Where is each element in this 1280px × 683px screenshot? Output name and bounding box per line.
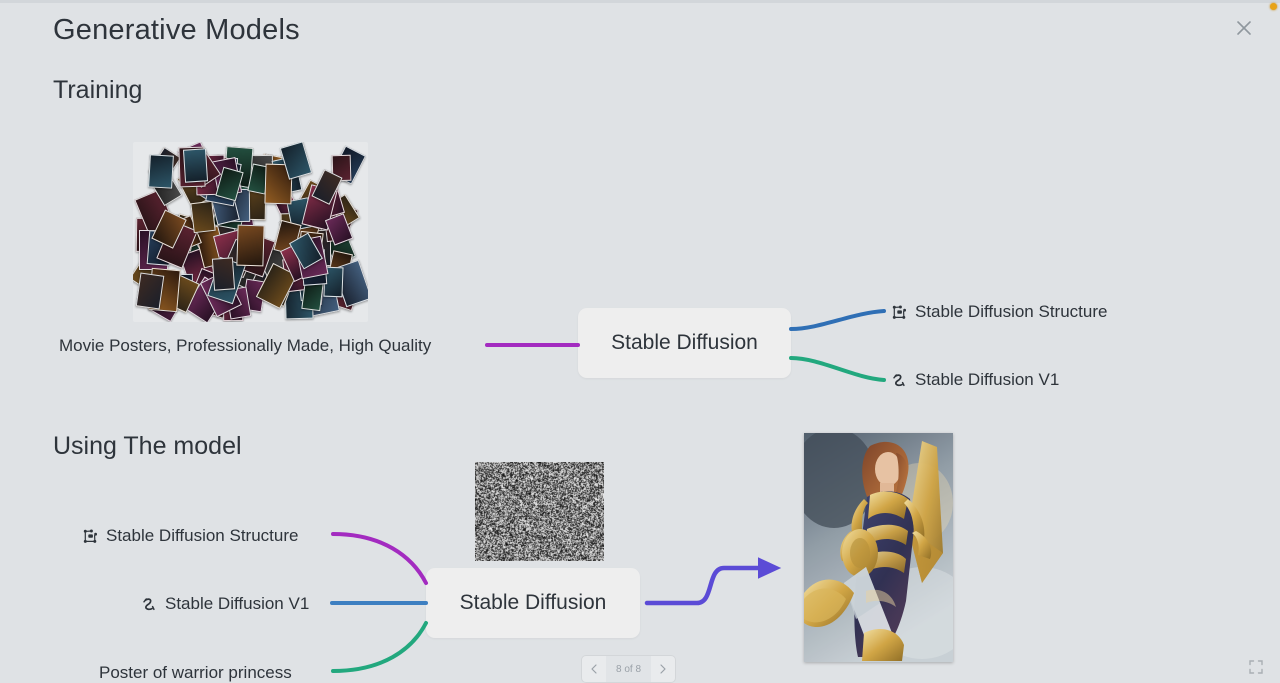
training-output-structure: Stable Diffusion Structure: [891, 302, 1107, 322]
status-dot: [1270, 3, 1277, 10]
using-input-v1: Stable Diffusion V1: [141, 594, 309, 614]
structure-nodes-icon: [891, 304, 908, 321]
latent-noise-image: [475, 462, 604, 561]
using-input-prompt-label: Poster of warrior princess: [99, 663, 292, 683]
poster-thumb: [148, 155, 174, 189]
poster-thumb: [302, 281, 324, 311]
node-stable-diffusion-training[interactable]: Stable Diffusion: [578, 308, 791, 378]
page-indicator: 8 of 8: [606, 656, 651, 682]
poster-thumb: [135, 273, 163, 310]
poster-thumb: [236, 225, 264, 267]
using-input-prompt: Poster of warrior princess: [99, 663, 292, 683]
training-output-v1-label: Stable Diffusion V1: [915, 370, 1059, 390]
poster-thumb: [183, 148, 208, 182]
movie-poster-collage-image: [133, 142, 368, 322]
node-label: Stable Diffusion: [460, 591, 607, 615]
next-page-button[interactable]: [651, 656, 675, 682]
training-output-v1: Stable Diffusion V1: [891, 370, 1059, 390]
training-output-structure-label: Stable Diffusion Structure: [915, 302, 1107, 322]
node-label: Stable Diffusion: [611, 331, 758, 355]
close-button[interactable]: [1230, 14, 1258, 42]
section-heading-training: Training: [53, 76, 142, 105]
generated-warrior-princess-image: [804, 433, 953, 662]
training-input-text: Movie Posters, Professionally Made, High…: [59, 336, 431, 356]
using-input-structure-label: Stable Diffusion Structure: [106, 526, 298, 546]
slide-canvas: Generative Models Training Using The mod…: [0, 0, 1280, 682]
structure-nodes-icon: [82, 528, 99, 545]
poster-thumb: [191, 201, 216, 233]
using-input-structure: Stable Diffusion Structure: [82, 526, 298, 546]
poster-thumb: [212, 257, 235, 291]
section-heading-using: Using The model: [53, 432, 242, 461]
page-title: Generative Models: [53, 14, 300, 47]
training-input-label: Movie Posters, Professionally Made, High…: [59, 336, 431, 356]
prev-page-button[interactable]: [582, 656, 606, 682]
pagination-control[interactable]: 8 of 8: [582, 656, 675, 682]
squiggle-model-icon: [141, 596, 158, 613]
node-stable-diffusion-using[interactable]: Stable Diffusion: [426, 568, 640, 638]
fullscreen-icon[interactable]: [1244, 656, 1268, 678]
using-input-v1-label: Stable Diffusion V1: [165, 594, 309, 614]
window-top-strip: [0, 0, 1280, 3]
squiggle-model-icon: [891, 372, 908, 389]
